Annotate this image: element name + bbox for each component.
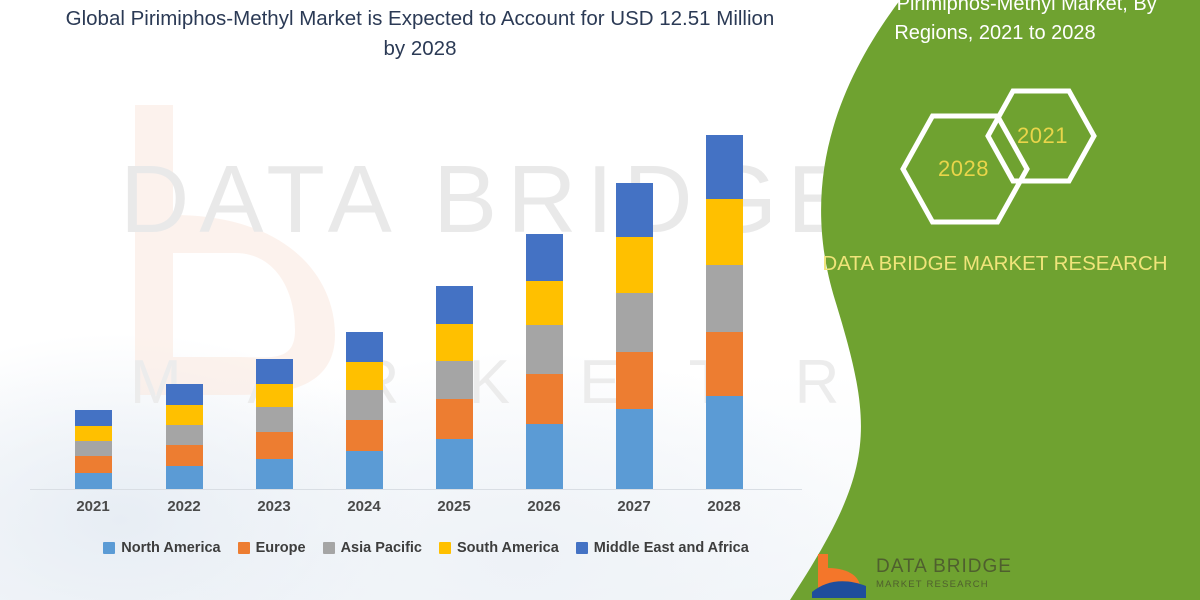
- green-side-panel: Global Pirimiphos-Methyl Market, By Regi…: [780, 0, 1200, 600]
- bar-2027: [616, 183, 653, 489]
- bar-segment-north-america-2023: [256, 459, 293, 489]
- bar-segment-middle-east-and-africa-2023: [256, 359, 293, 384]
- bar-segment-middle-east-and-africa-2027: [616, 183, 653, 237]
- bar-segment-asia-pacific-2021: [75, 441, 112, 456]
- x-tick-2024: 2024: [319, 498, 409, 515]
- legend-label: North America: [121, 540, 220, 556]
- legend-swatch-icon: [576, 542, 588, 554]
- data-bridge-logo: DATA BRIDGE MARKET RESEARCH: [810, 552, 1170, 600]
- bar-segment-north-america-2024: [346, 451, 383, 489]
- data-bridge-logo-sub: MARKET RESEARCH: [876, 579, 989, 590]
- bar-segment-middle-east-and-africa-2024: [346, 332, 383, 362]
- page-title: Global Pirimiphos-Methyl Market is Expec…: [60, 4, 780, 64]
- x-tick-2021: 2021: [48, 498, 138, 515]
- bar-segment-europe-2027: [616, 352, 653, 409]
- legend-swatch-icon: [103, 542, 115, 554]
- legend-label: Europe: [256, 540, 306, 556]
- bar-segment-south-america-2025: [436, 324, 473, 360]
- bar-segment-europe-2023: [256, 432, 293, 459]
- x-axis: 20212022202320242025202620272028: [0, 498, 820, 524]
- bar-segment-asia-pacific-2024: [346, 390, 383, 420]
- bar-segment-middle-east-and-africa-2025: [436, 286, 473, 324]
- bar-segment-south-america-2023: [256, 384, 293, 407]
- legend-label: South America: [457, 540, 559, 556]
- bar-2028: [706, 135, 743, 489]
- bar-segment-north-america-2025: [436, 439, 473, 489]
- bar-segment-asia-pacific-2028: [706, 265, 743, 332]
- bar-segment-middle-east-and-africa-2021: [75, 410, 112, 426]
- bar-segment-asia-pacific-2023: [256, 407, 293, 432]
- data-bridge-logo-text: DATA BRIDGE: [876, 556, 1012, 578]
- legend-swatch-icon: [323, 542, 335, 554]
- stacked-bar-chart: [0, 110, 820, 489]
- bar-2025: [436, 286, 473, 489]
- legend-label: Asia Pacific: [341, 540, 422, 556]
- hexagon-2021-label: 2021: [1017, 123, 1068, 149]
- bar-segment-south-america-2024: [346, 362, 383, 390]
- bar-segment-europe-2028: [706, 332, 743, 396]
- bar-segment-asia-pacific-2022: [166, 425, 203, 445]
- bar-segment-europe-2021: [75, 456, 112, 472]
- bar-segment-south-america-2027: [616, 237, 653, 293]
- bar-segment-north-america-2027: [616, 409, 653, 489]
- bar-segment-north-america-2028: [706, 396, 743, 489]
- bar-2024: [346, 332, 383, 489]
- chart-baseline: [30, 489, 802, 490]
- bar-segment-south-america-2022: [166, 405, 203, 425]
- legend-item-south-america[interactable]: South America: [439, 540, 559, 556]
- hexagon-2028-label: 2028: [938, 156, 989, 182]
- bar-segment-north-america-2026: [526, 424, 563, 489]
- brand-name: DATA BRIDGE MARKET RESEARCH: [800, 248, 1190, 279]
- x-tick-2028: 2028: [679, 498, 769, 515]
- bar-segment-middle-east-and-africa-2028: [706, 135, 743, 199]
- legend-label: Middle East and Africa: [594, 540, 749, 556]
- bar-segment-south-america-2021: [75, 426, 112, 441]
- bar-segment-europe-2022: [166, 445, 203, 466]
- bar-segment-north-america-2021: [75, 473, 112, 489]
- x-tick-2026: 2026: [499, 498, 589, 515]
- x-tick-2023: 2023: [229, 498, 319, 515]
- bar-segment-north-america-2022: [166, 466, 203, 489]
- bar-segment-south-america-2026: [526, 281, 563, 326]
- legend-item-europe[interactable]: Europe: [238, 540, 306, 556]
- legend-swatch-icon: [238, 542, 250, 554]
- bar-segment-asia-pacific-2025: [436, 361, 473, 399]
- bar-segment-europe-2026: [526, 374, 563, 424]
- bar-segment-asia-pacific-2026: [526, 325, 563, 373]
- bar-segment-south-america-2028: [706, 199, 743, 265]
- green-panel-heading: Global Pirimiphos-Methyl Market, By Regi…: [810, 0, 1180, 48]
- x-tick-2025: 2025: [409, 498, 499, 515]
- infographic-root: DATA BRIDGE M A R K E T R E S E A R C H …: [0, 0, 1200, 600]
- bar-segment-europe-2025: [436, 399, 473, 439]
- legend-item-north-america[interactable]: North America: [103, 540, 220, 556]
- bar-2022: [166, 384, 203, 489]
- bar-2023: [256, 359, 293, 489]
- chart-legend: North AmericaEuropeAsia PacificSouth Ame…: [36, 540, 816, 556]
- legend-item-asia-pacific[interactable]: Asia Pacific: [323, 540, 422, 556]
- hexagon-group: 2028 2021: [900, 88, 1120, 223]
- bar-segment-europe-2024: [346, 420, 383, 451]
- bar-segment-middle-east-and-africa-2026: [526, 234, 563, 281]
- x-tick-2027: 2027: [589, 498, 679, 515]
- bar-2026: [526, 234, 563, 489]
- legend-item-middle-east-and-africa[interactable]: Middle East and Africa: [576, 540, 749, 556]
- bar-2021: [75, 410, 112, 489]
- bar-segment-middle-east-and-africa-2022: [166, 384, 203, 405]
- x-tick-2022: 2022: [139, 498, 229, 515]
- data-bridge-logomark-icon: [810, 552, 870, 600]
- bar-segment-asia-pacific-2027: [616, 293, 653, 352]
- legend-swatch-icon: [439, 542, 451, 554]
